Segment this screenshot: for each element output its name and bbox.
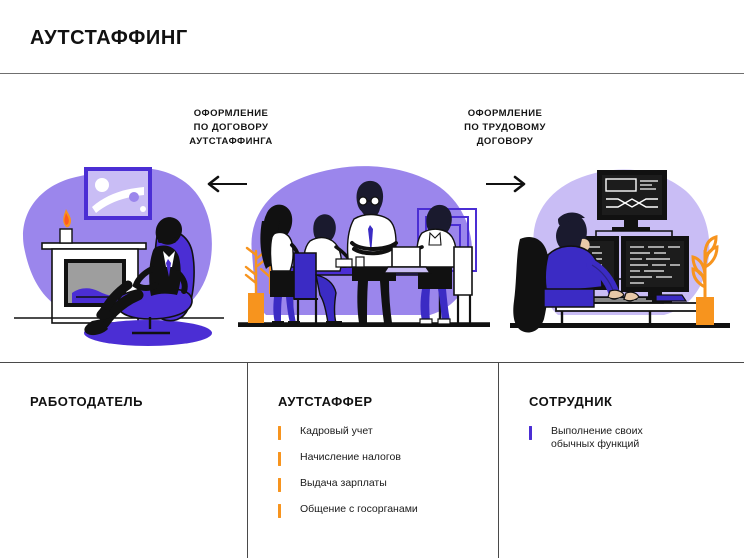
column-outstaffer: АУТСТАФФЕР Кадровый учет Начисление нало… xyxy=(248,363,498,558)
bullet-marker-icon xyxy=(278,452,281,466)
column-employee: СОТРУДНИК Выполнение своих обычных функц… xyxy=(499,363,744,558)
developer-at-workstation-illustration xyxy=(500,155,740,355)
bullet-marker-icon xyxy=(278,504,281,518)
bullet-marker-icon xyxy=(278,478,281,492)
page-title: АУТСТАФФИНГ xyxy=(30,27,188,50)
arrow-left-icon xyxy=(203,172,249,196)
list-item-label: Выдача зарплаты xyxy=(300,477,387,490)
column-list-employee: Выполнение своих обычных функций xyxy=(529,425,643,462)
column-heading-employee: СОТРУДНИК xyxy=(529,394,612,409)
list-item: Выдача зарплаты xyxy=(278,477,418,492)
illustration-band xyxy=(0,155,744,355)
column-list-outstaffer: Кадровый учет Начисление налогов Выдача … xyxy=(278,425,418,529)
caption-labor-contract: ОФОРМЛЕНИЕ ПО ТРУДОВОМУ ДОГОВОРУ xyxy=(425,107,585,149)
list-item-label: Выполнение своих обычных функций xyxy=(551,425,643,451)
employer-relaxing-in-armchair-illustration xyxy=(6,155,231,355)
column-employer: РАБОТОДАТЕЛЬ xyxy=(0,363,247,558)
header-divider xyxy=(0,73,744,74)
list-item: Начисление налогов xyxy=(278,451,418,466)
list-item-label: Общение с госорганами xyxy=(300,503,418,516)
arrow-right-icon xyxy=(484,172,530,196)
list-item-label: Кадровый учет xyxy=(300,425,373,438)
title-bar: АУТСТАФФИНГ xyxy=(0,0,744,74)
list-item-label: Начисление налогов xyxy=(300,451,401,464)
column-heading-employer: РАБОТОДАТЕЛЬ xyxy=(30,394,143,409)
infographic-page: АУТСТАФФИНГ ОФОРМЛЕНИЕ ПО ДОГОВОРУ АУТСТ… xyxy=(0,0,744,558)
list-item: Кадровый учет xyxy=(278,425,418,440)
office-team-meeting-illustration xyxy=(232,155,497,355)
bullet-marker-icon xyxy=(529,426,532,440)
column-heading-outstaffer: АУТСТАФФЕР xyxy=(278,394,373,409)
caption-outstaffing-contract: ОФОРМЛЕНИЕ ПО ДОГОВОРУ АУТСТАФФИНГА xyxy=(151,107,311,149)
list-item: Выполнение своих обычных функций xyxy=(529,425,643,451)
bullet-marker-icon xyxy=(278,426,281,440)
list-item: Общение с госорганами xyxy=(278,503,418,518)
